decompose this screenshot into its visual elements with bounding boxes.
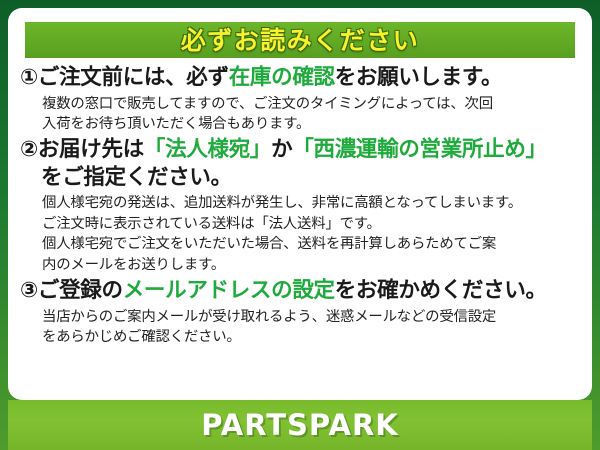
notice-item-1-head-part1: ご注文前には、必ず bbox=[38, 65, 229, 90]
notice-item-2-heading-line2: をご指定ください。 bbox=[20, 164, 582, 192]
notice-item-2-body-line-4: 内のメールをお送りします。 bbox=[42, 255, 582, 275]
notice-item-3-head-part1: ご登録の bbox=[38, 278, 123, 303]
notice-item-2-body-line-3: 個人様宅宛でご注文をいただいた場合、送料を再計算しあらためてご案 bbox=[42, 234, 582, 254]
notice-item-1: ①ご注文前には、必ず在庫の確認をお願いします。 複数の窓口で販売してますので、ご… bbox=[20, 64, 582, 134]
notice-item-1-marker: ① bbox=[20, 65, 38, 90]
notice-item-3-body-line-2: をあらかじめご確認ください。 bbox=[42, 327, 582, 347]
border-edge-right bbox=[592, 0, 600, 450]
notice-item-1-heading: ①ご注文前には、必ず在庫の確認をお願いします。 bbox=[20, 64, 582, 92]
notice-content: ①ご注文前には、必ず在庫の確認をお願いします。 複数の窓口で販売してますので、ご… bbox=[8, 64, 592, 350]
notice-item-1-head-part2: をお願いします。 bbox=[335, 65, 502, 90]
notice-item-2-body-line-1: 個人様宅宛の発送は、追加送料が発生し、非常に高額となってしまいます。 bbox=[42, 193, 582, 213]
notice-item-2-body: 個人様宅宛の発送は、追加送料が発生し、非常に高額となってしまいます。 ご注文時に… bbox=[20, 193, 582, 275]
notice-item-2-highlight-2: 「西濃運輸の営業所止め」 bbox=[292, 137, 546, 162]
white-card: 必ずお読みください ①ご注文前には、必ず在庫の確認をお願いします。 複数の窓口で… bbox=[8, 8, 592, 400]
notice-item-2: ②お届け先は「法人様宛」か「西濃運輸の営業所止め」 をご指定ください。 個人様宅… bbox=[20, 136, 582, 275]
notice-item-1-body-line-1: 複数の窓口で販売してますので、ご注文のタイミングによっては、次回 bbox=[42, 94, 582, 114]
border-edge-left bbox=[0, 0, 8, 450]
notice-item-1-highlight: 在庫の確認 bbox=[229, 65, 335, 90]
notice-item-1-body-line-2: 入荷をお待ち頂いただく場合もあります。 bbox=[42, 114, 582, 134]
notice-item-3: ③ご登録のメールアドレスの設定をお確かめください。 当店からのご案内メールが受け… bbox=[20, 277, 582, 347]
notice-item-2-body-line-2: ご注文時に表示されている送料は「法人送料」です。 bbox=[42, 214, 582, 234]
notice-item-1-body: 複数の窓口で販売してますので、ご注文のタイミングによっては、次回 入荷をお待ち頂… bbox=[20, 94, 582, 135]
notice-item-3-body-line-1: 当店からのご案内メールが受け取れるよう、迷惑メールなどの受信設定 bbox=[42, 307, 582, 327]
page-title: 必ずお読みください bbox=[181, 28, 420, 53]
notice-item-2-heading: ②お届け先は「法人様宛」か「西濃運輸の営業所止め」 bbox=[20, 136, 582, 164]
notice-item-2-head-middle: か bbox=[271, 137, 292, 162]
brand-logo: PARTSPARK bbox=[201, 408, 399, 442]
notice-item-3-heading: ③ご登録のメールアドレスの設定をお確かめください。 bbox=[20, 277, 582, 305]
notice-item-2-marker: ② bbox=[20, 137, 38, 162]
notice-item-3-head-part2: をお確かめください。 bbox=[335, 278, 547, 303]
notice-item-3-highlight: メールアドレスの設定 bbox=[123, 278, 335, 303]
notice-item-2-highlight-1: 「法人様宛」 bbox=[144, 137, 271, 162]
title-banner: 必ずお読みください bbox=[25, 22, 575, 58]
notice-card: 必ずお読みください ①ご注文前には、必ず在庫の確認をお願いします。 複数の窓口で… bbox=[0, 0, 600, 450]
footer-banner: PARTSPARK bbox=[0, 400, 600, 450]
notice-item-2-head-part1: お届け先は bbox=[38, 137, 144, 162]
notice-item-3-marker: ③ bbox=[20, 278, 38, 303]
notice-item-3-body: 当店からのご案内メールが受け取れるよう、迷惑メールなどの受信設定 をあらかじめご… bbox=[20, 307, 582, 348]
